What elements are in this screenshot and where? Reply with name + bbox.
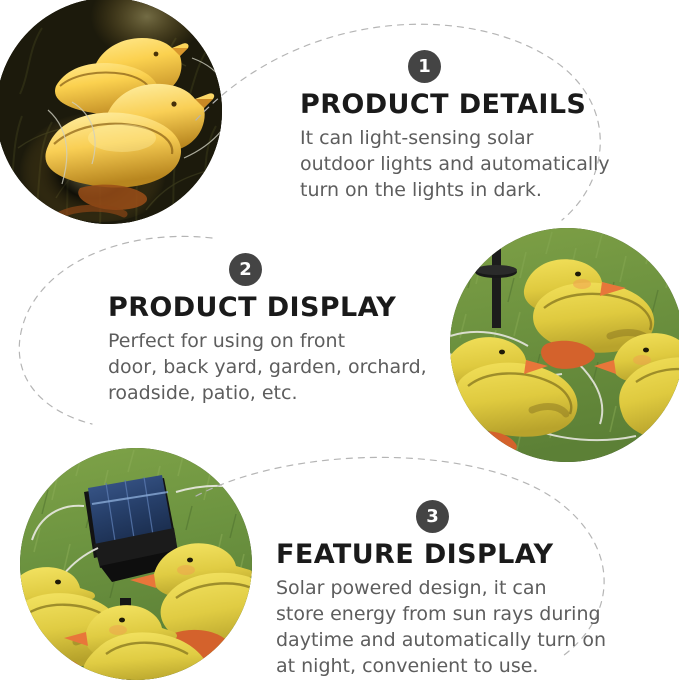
section-2-body: Perfect for using on front door, back ya…: [108, 328, 438, 406]
section-1: 1 PRODUCT DETAILS It can light-sensing s…: [300, 50, 630, 203]
section-3: 3 FEATURE DISPLAY Solar powered design, …: [276, 500, 616, 679]
section-1-body: It can light-sensing solar outdoor light…: [300, 125, 630, 203]
section-3-heading: FEATURE DISPLAY: [276, 539, 616, 570]
step-badge-2: 2: [229, 253, 262, 286]
step-badge-1: 1: [408, 50, 441, 83]
section-2: 2 PRODUCT DISPLAY Perfect for using on f…: [108, 253, 438, 406]
section-3-body: Solar powered design, it can store energ…: [276, 575, 616, 679]
infographic-page: 1 PRODUCT DETAILS It can light-sensing s…: [0, 0, 679, 689]
step-badge-3: 3: [416, 500, 449, 533]
section-2-heading: PRODUCT DISPLAY: [108, 292, 438, 323]
product-photo-solar-panel-ducks: [20, 448, 252, 680]
product-photo-ducks-on-grass: [450, 228, 679, 462]
product-photo-night-ducks: [0, 0, 222, 224]
section-1-heading: PRODUCT DETAILS: [300, 89, 630, 120]
